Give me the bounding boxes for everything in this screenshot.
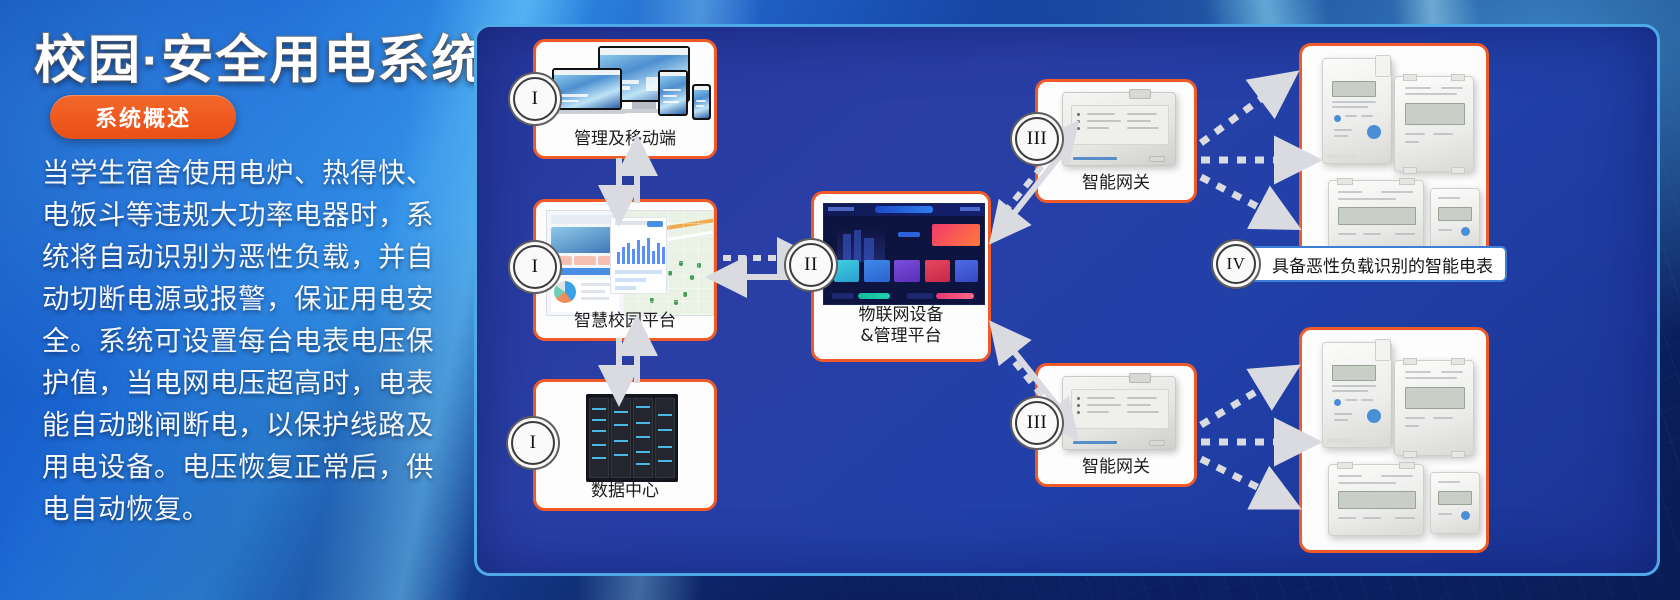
badge-gateway-bottom: III [1015, 401, 1059, 445]
badge-gateway-top: III [1015, 117, 1059, 161]
architecture-diagram-panel: 管理及移动端 I [474, 24, 1660, 576]
badge-management-mobile: I [513, 77, 557, 121]
system-overview-description: 当学生宿舍使用电炉、热得快、电饭斗等违规大功率电器时，系统将自动识别为恶性负载，… [42, 152, 434, 530]
connector-gateway-bottom-meters [1201, 379, 1295, 497]
connector-management-campus [619, 158, 637, 203]
left-info-column: 校园·安全用电系统 系统概述 当学生宿舍使用电炉、热得快、电饭斗等违规大功率电器… [0, 0, 470, 600]
connector-gateway-top-meters [1201, 87, 1295, 217]
section-pill-system-overview: 系统概述 [50, 95, 236, 139]
badge-smart-campus: I [513, 245, 557, 289]
badge-data-center: I [511, 421, 555, 465]
connector-campus-iot [723, 258, 799, 277]
badge-smart-meter: IV [1216, 244, 1256, 284]
connector-layer [477, 27, 1660, 576]
page-title: 校园·安全用电系统 [34, 18, 485, 93]
connector-campus-datacenter [619, 338, 637, 383]
callout-smart-meter-label: 具备恶性负载识别的智能电表 [1272, 252, 1493, 277]
callout-smart-meter-malicious-load[interactable]: IV 具备恶性负载识别的智能电表 [1236, 246, 1507, 282]
badge-iot-platform: II [789, 243, 833, 287]
